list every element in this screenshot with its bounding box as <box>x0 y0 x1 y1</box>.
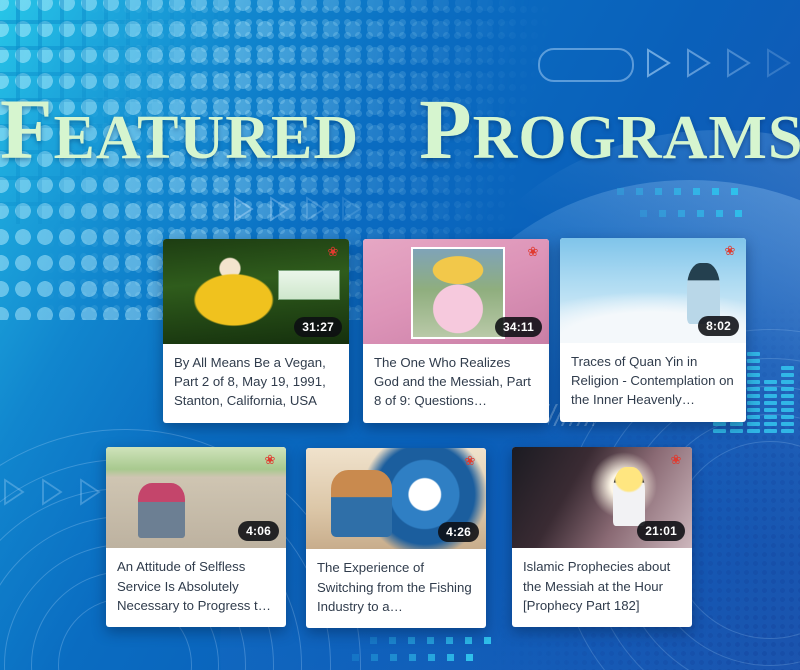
square-dots-row <box>617 188 738 195</box>
play-triangle-group-middle <box>232 196 362 222</box>
channel-logo-icon: ❀ <box>459 452 481 469</box>
program-card[interactable]: ❀ 31:27 By All Means Be a Vegan, Part 2 … <box>163 239 349 423</box>
play-triangle-group-left <box>2 478 102 506</box>
duration-badge: 4:26 <box>438 522 479 542</box>
program-card[interactable]: ❀ 4:06 An Attitude of Selfless Service I… <box>106 447 286 627</box>
program-title[interactable]: Traces of Quan Yin in Religion - Contemp… <box>571 352 735 410</box>
program-thumbnail[interactable]: ❀ 4:06 <box>106 447 286 548</box>
program-thumbnail[interactable]: ❀ 34:11 <box>363 239 549 344</box>
channel-logo-icon: ❀ <box>665 451 687 468</box>
play-triangle-icon <box>2 478 26 506</box>
duration-badge: 31:27 <box>294 317 342 337</box>
program-meta: Islamic Prophecies about the Messiah at … <box>512 548 692 627</box>
page-title-word-1: FEATURED <box>0 94 359 174</box>
channel-logo-icon: ❀ <box>322 243 344 260</box>
play-triangle-icon <box>304 196 326 222</box>
program-card[interactable]: ❀ 34:11 The One Who Realizes God and the… <box>363 239 549 423</box>
program-meta: An Attitude of Selfless Service Is Absol… <box>106 548 286 627</box>
program-title[interactable]: Islamic Prophecies about the Messiah at … <box>523 557 681 615</box>
program-thumbnail[interactable]: ❀ 4:26 <box>306 448 486 549</box>
page-title: FEATURED PROGRAMS <box>0 86 800 172</box>
program-title[interactable]: An Attitude of Selfless Service Is Absol… <box>117 557 275 615</box>
square-dots-row <box>640 210 742 217</box>
program-card[interactable]: ❀ 4:26 The Experience of Switching from … <box>306 448 486 628</box>
square-dots-row <box>352 654 473 661</box>
duration-badge: 34:11 <box>495 317 542 337</box>
program-meta: By All Means Be a Vegan, Part 2 of 8, Ma… <box>163 344 349 423</box>
duration-badge: 4:06 <box>238 521 279 541</box>
featured-programs-banner: FEATURED PROGRAMS ❀ 31:27 By All Means B… <box>0 0 800 670</box>
duration-badge: 8:02 <box>698 316 739 336</box>
pill-outline-icon <box>538 48 634 82</box>
play-triangle-icon <box>645 48 671 78</box>
play-triangle-icon <box>40 478 64 506</box>
duration-badge: 21:01 <box>637 521 685 541</box>
program-thumbnail[interactable]: ❀ 8:02 <box>560 238 746 343</box>
square-dots-row <box>370 637 491 644</box>
program-card[interactable]: ❀ 21:01 Islamic Prophecies about the Mes… <box>512 447 692 627</box>
play-triangle-icon <box>765 48 791 78</box>
play-triangle-icon <box>340 196 362 222</box>
program-title[interactable]: The Experience of Switching from the Fis… <box>317 558 475 616</box>
play-triangle-icon <box>685 48 711 78</box>
program-thumbnail[interactable]: ❀ 21:01 <box>512 447 692 548</box>
program-title[interactable]: The One Who Realizes God and the Messiah… <box>374 353 538 411</box>
program-card[interactable]: ❀ 8:02 Traces of Quan Yin in Religion - … <box>560 238 746 422</box>
play-triangle-icon <box>78 478 102 506</box>
channel-logo-icon: ❀ <box>259 451 281 468</box>
program-meta: The Experience of Switching from the Fis… <box>306 549 486 628</box>
channel-logo-icon: ❀ <box>719 242 741 259</box>
channel-logo-icon: ❀ <box>522 243 544 260</box>
play-triangle-icon <box>268 196 290 222</box>
program-meta: Traces of Quan Yin in Religion - Contemp… <box>560 343 746 422</box>
page-title-word-2: PROGRAMS <box>419 94 800 174</box>
play-triangle-icon <box>725 48 751 78</box>
play-triangle-icon <box>232 196 254 222</box>
program-thumbnail[interactable]: ❀ 31:27 <box>163 239 349 344</box>
play-triangle-group-top <box>645 48 791 78</box>
program-title[interactable]: By All Means Be a Vegan, Part 2 of 8, Ma… <box>174 353 338 411</box>
program-meta: The One Who Realizes God and the Messiah… <box>363 344 549 423</box>
